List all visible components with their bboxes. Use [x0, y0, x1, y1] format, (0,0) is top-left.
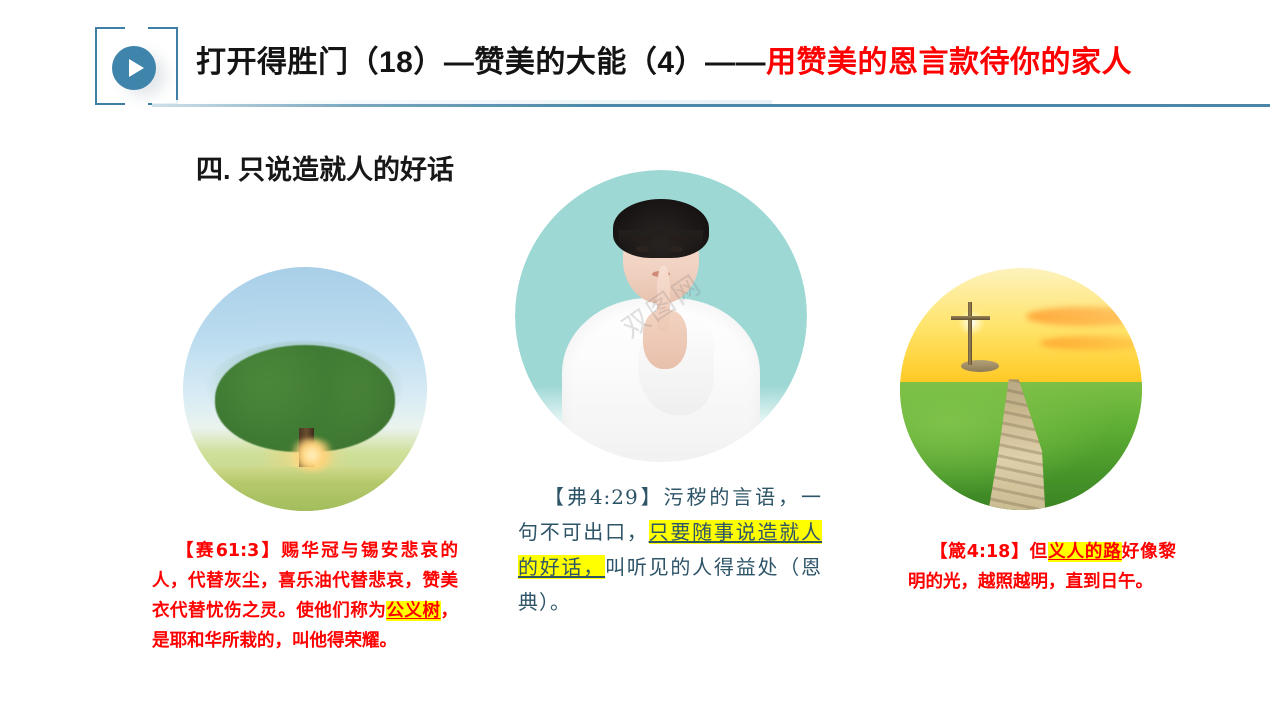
verse-center-ref: 【弗4:29】: [544, 485, 664, 509]
play-button-icon[interactable]: [112, 46, 156, 90]
sunset-cloud-1: [1026, 307, 1142, 326]
frame-edge-left: [95, 27, 97, 105]
eyebrow-right: [668, 237, 688, 241]
hair: [613, 199, 709, 257]
section-heading: 四. 只说造就人的好话: [196, 148, 454, 187]
page-title: 打开得胜门（18）—赞美的大能（4）——用赞美的恩言款待你的家人: [196, 48, 1132, 78]
sun-glow: [285, 438, 339, 472]
verse-right-part1: 但: [1030, 542, 1048, 562]
page-title-black: 打开得胜门（18）—赞美的大能（4）——: [196, 46, 766, 79]
frame-corner-bottom-left: [95, 103, 125, 105]
verse-right-ref: 【箴4:18】: [930, 542, 1030, 562]
tree-at-sunset-photo: [183, 267, 427, 511]
man-shushing-photo: 双图网: [515, 170, 807, 462]
frame-corner-top-right: [148, 27, 178, 29]
eyebrow-left: [632, 237, 652, 241]
slide-canvas: 打开得胜门（18）—赞美的大能（4）——用赞美的恩言款待你的家人 四. 只说造就…: [0, 0, 1280, 720]
cross-vertical-beam: [968, 302, 972, 365]
cross-horizontal-beam: [951, 316, 990, 320]
rocks: [961, 360, 1000, 372]
page-title-red: 用赞美的恩言款待你的家人: [766, 46, 1132, 79]
verse-center: 【弗4:29】污秽的言语，一句不可出口，只要随事说造就人的好话，叫听见的人得益处…: [518, 480, 822, 620]
verse-left: 【赛61:3】赐华冠与锡安悲哀的人，代替灰尘，喜乐油代替悲哀，赞美衣代替忧伤之灵…: [152, 536, 458, 656]
frame-edge-right: [176, 27, 178, 105]
play-triangle-icon: [129, 59, 144, 77]
tree-field: [183, 467, 427, 511]
verse-right-highlight: 义人的路: [1048, 542, 1122, 562]
cross-on-path-photo: [900, 268, 1142, 510]
slide-header: 打开得胜门（18）—赞美的大能（4）——用赞美的恩言款待你的家人: [0, 0, 1280, 130]
verse-left-highlight: 公义树: [386, 601, 440, 621]
verse-left-ref: 【赛61:3】: [176, 541, 282, 561]
sunset-cloud-2: [1040, 336, 1142, 351]
frame-corner-top-left: [95, 27, 125, 29]
header-divider: [152, 104, 1270, 107]
verse-right: 【箴4:18】但义人的路好像黎明的光，越照越明，直到日午。: [908, 537, 1176, 597]
